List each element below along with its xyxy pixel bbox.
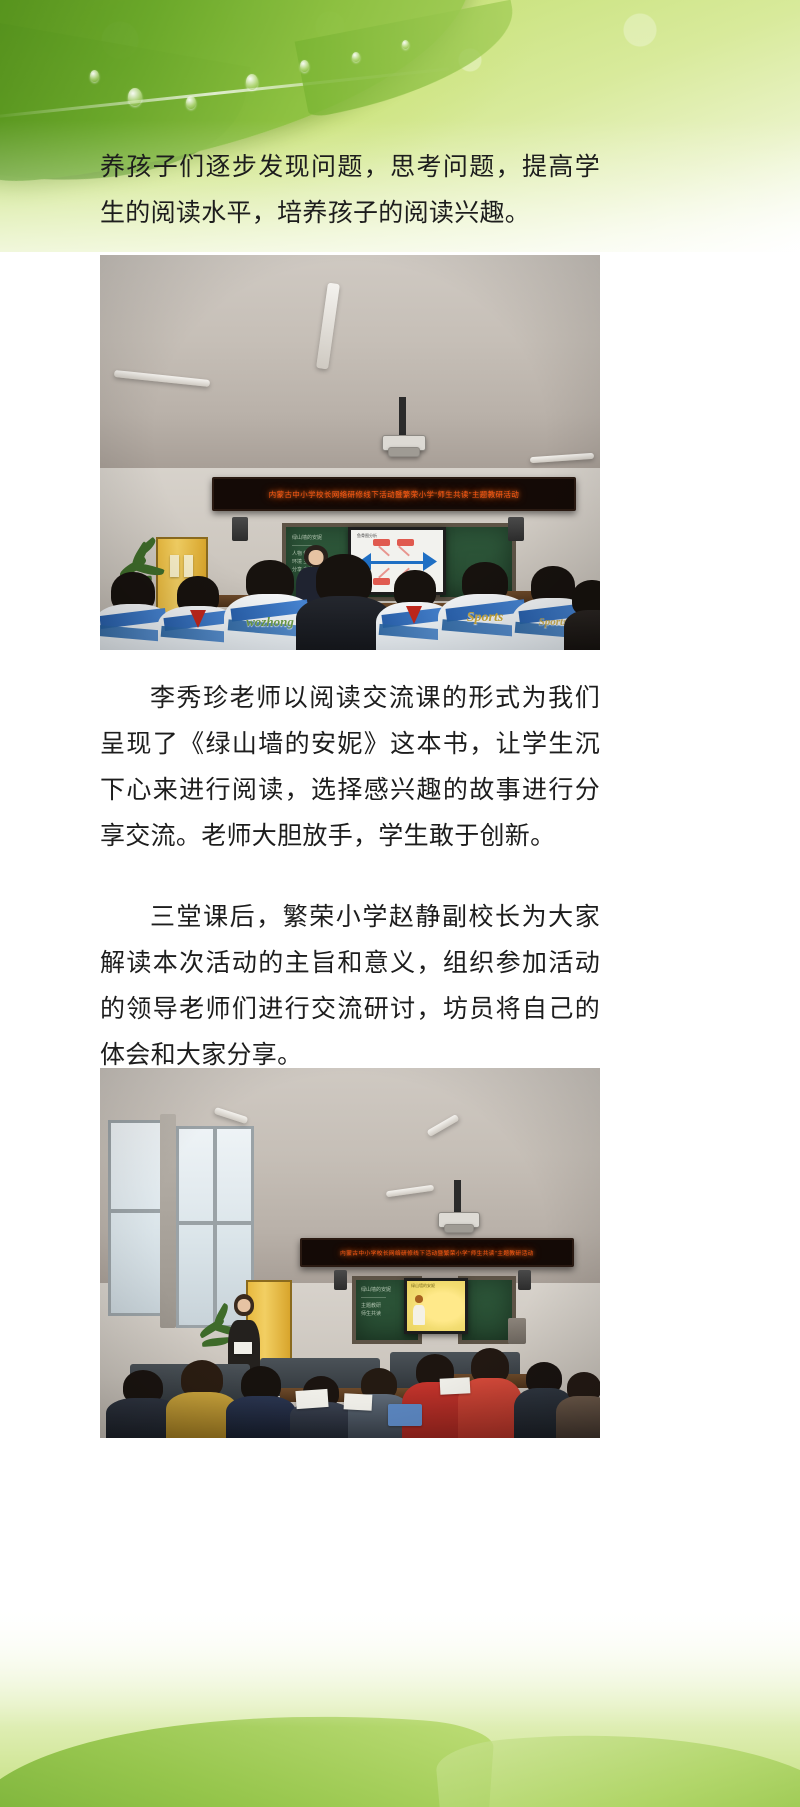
wall-cabinet xyxy=(508,1318,526,1344)
window-mullion xyxy=(213,1129,217,1325)
attendee-figure xyxy=(226,1366,296,1438)
fishbone-label-box xyxy=(373,539,390,546)
led-banner-text: 内蒙古中小学校长网络研修线下活动暨繁荣小学“师生共读”主题教研活动 xyxy=(269,489,520,500)
attendee-body xyxy=(556,1396,600,1438)
projection-screen: 绿山墙的安妮 xyxy=(404,1278,468,1334)
handout-paper xyxy=(344,1393,373,1410)
projector-mount xyxy=(454,1180,461,1214)
projector-lens xyxy=(388,447,420,457)
slide-character-head xyxy=(415,1295,423,1303)
blackboard-writing: 绿山墙的安妮—————主题教研师生共读 xyxy=(361,1286,391,1318)
article-content: 养孩子们逐步发现问题，思考问题，提高学生的阅读水平，培养孩子的阅读兴趣。 内蒙古… xyxy=(0,0,800,1807)
footer-fade-overlay xyxy=(0,1607,800,1727)
wall-speaker-icon xyxy=(518,1270,531,1290)
photo-classroom-teachers: 内蒙古中小学校长网络研修线下活动暨繁荣小学“师生共读”主题教研活动 绿山墙的安妮… xyxy=(100,1068,600,1438)
student-uniform-dark xyxy=(564,610,600,650)
projector-mount xyxy=(399,397,406,437)
handout-paper xyxy=(440,1377,471,1395)
led-banner-text: 内蒙古中小学校长网络研修线下活动暨繁荣小学“师生共读”主题教研活动 xyxy=(340,1249,534,1257)
presenter-handout xyxy=(234,1342,252,1354)
photo-classroom-students: 内蒙古中小学校长网络研修线下活动暨繁荣小学“师生共读”主题教研活动 绿山墙的安妮… xyxy=(100,255,600,650)
slide-title: 绿山墙的安妮 xyxy=(411,1283,435,1289)
led-banner: 内蒙古中小学校长网络研修线下活动暨繁荣小学“师生共读”主题教研活动 xyxy=(300,1238,574,1267)
projector-lens xyxy=(444,1224,474,1233)
led-banner: 内蒙古中小学校长网络研修线下活动暨繁荣小学“师生共读”主题教研活动 xyxy=(212,477,576,511)
footer-leaf-decoration xyxy=(0,1607,800,1807)
paragraph-continued: 养孩子们逐步发现问题，思考问题，提高学生的阅读水平，培养孩子的阅读兴趣。 xyxy=(100,145,600,237)
attendee-figure xyxy=(556,1372,600,1438)
handout-paper xyxy=(295,1389,328,1409)
wall-speaker-icon xyxy=(232,517,248,541)
ceiling xyxy=(100,255,600,468)
student-figure xyxy=(564,580,600,650)
window-pillar xyxy=(160,1114,176,1328)
paragraph-vice-principal: 三堂课后，繁荣小学赵静副校长为大家解读本次活动的主旨和意义，组织参加活动的领导老… xyxy=(100,895,600,1079)
door-poster xyxy=(184,555,193,577)
fishbone-label-box xyxy=(397,539,414,546)
presenter-face xyxy=(238,1299,251,1312)
slide-character-body xyxy=(413,1305,425,1325)
fishbone-tail xyxy=(423,552,437,571)
tablet-device xyxy=(388,1404,422,1426)
wall-speaker-icon xyxy=(334,1270,347,1290)
slide-character xyxy=(413,1295,425,1325)
wall-speaker-icon xyxy=(508,517,524,541)
attendee-body xyxy=(226,1396,296,1438)
window-mullion xyxy=(111,1209,163,1213)
paragraph-teacher-li: 李秀珍老师以阅读交流课的形式为我们呈现了《绿山墙的安妮》这本书，让学生沉下心来进… xyxy=(100,676,600,860)
fishbone-rib xyxy=(398,546,410,557)
classroom-window xyxy=(108,1120,166,1316)
article-page: 养孩子们逐步发现问题，思考问题，提高学生的阅读水平，培养孩子的阅读兴趣。 内蒙古… xyxy=(0,0,800,1807)
